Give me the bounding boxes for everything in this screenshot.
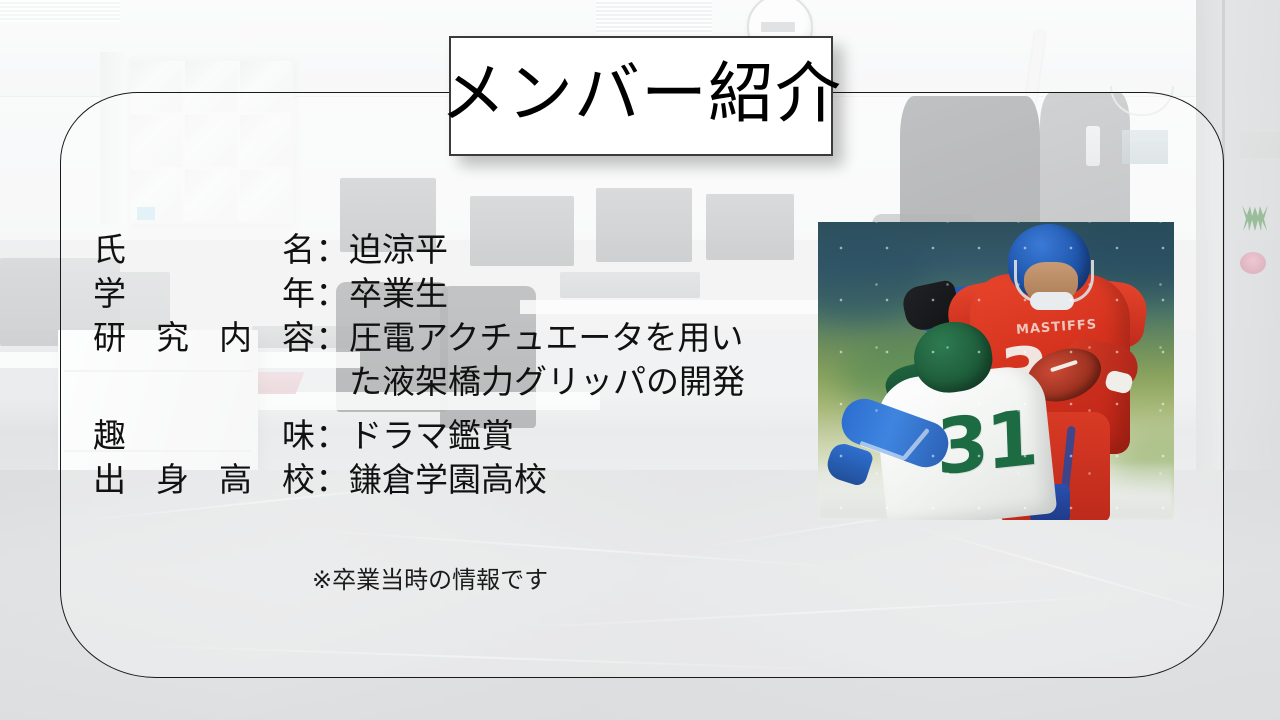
info-row-hobby: 趣味 ： ドラマ鑑賞: [93, 414, 823, 458]
title-box: メンバー紹介: [449, 36, 833, 156]
info-label-name: 氏名: [93, 228, 315, 272]
info-separator: ：: [315, 272, 349, 316]
pink-sticker: [1240, 252, 1266, 274]
info-separator: ：: [315, 458, 349, 502]
info-row-name: 氏名 ： 迫涼平: [93, 228, 823, 272]
carrier-chinstrap: [1030, 292, 1074, 310]
member-photo: 3 MASTIFFS 31: [818, 222, 1174, 520]
info-label-research: 研究内容: [93, 316, 315, 360]
slide-canvas: メンバー紹介 氏名 ： 迫涼平 学年 ： 卒業生 研究内容 ： 圧電アクチュエー…: [0, 0, 1280, 720]
info-value-research: 圧電アクチュエータを用い た液架橋力グリッパの開発: [349, 316, 823, 404]
info-row-highschool: 出身高校 ： 鎌倉学園高校: [93, 458, 823, 502]
info-separator: ：: [315, 228, 349, 272]
info-value-hobby: ドラマ鑑賞: [349, 414, 823, 458]
info-separator: ：: [315, 414, 349, 458]
info-label-year: 学年: [93, 272, 315, 316]
page-title: メンバー紹介: [440, 61, 842, 127]
info-spacer: [93, 404, 823, 414]
info-value-highschool: 鎌倉学園高校: [349, 458, 823, 502]
info-label-hobby: 趣味: [93, 414, 315, 458]
info-row-research: 研究内容 ： 圧電アクチュエータを用い た液架橋力グリッパの開発: [93, 316, 823, 404]
window-blinds-icon: [596, 0, 712, 34]
info-separator: ：: [315, 316, 349, 360]
profile-info-table: 氏名 ： 迫涼平 学年 ： 卒業生 研究内容 ： 圧電アクチュエータを用い た液…: [93, 228, 823, 502]
info-value-year: 卒業生: [349, 272, 823, 316]
defender-jersey-number: 31: [935, 393, 1037, 493]
window-blinds-secondary-icon: [0, 0, 120, 22]
footnote: ※卒業当時の情報です: [312, 566, 548, 595]
info-row-year: 学年 ： 卒業生: [93, 272, 823, 316]
monster-logo-icon: [1238, 205, 1272, 231]
info-label-highschool: 出身高校: [93, 458, 315, 502]
info-value-name: 迫涼平: [349, 228, 823, 272]
